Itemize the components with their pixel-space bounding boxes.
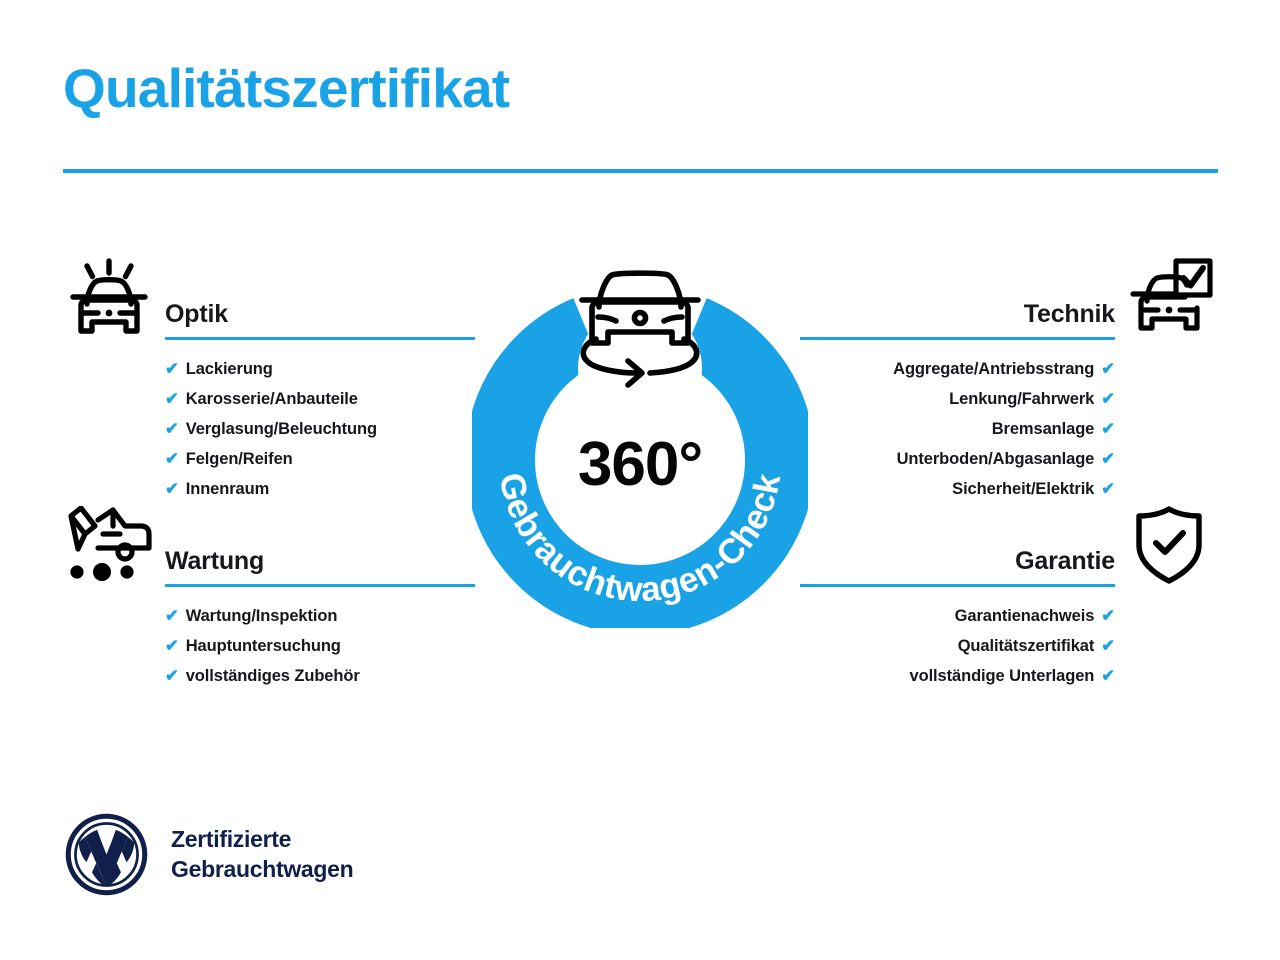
section-optik-divider <box>165 337 475 340</box>
check-icon: ✔ <box>165 384 179 414</box>
list-item-label: Qualitätszertifikat <box>958 631 1095 661</box>
section-technik-title-wrap: Technik <box>800 301 1115 341</box>
section-technik-divider <box>800 337 1115 340</box>
check-icon: ✔ <box>1101 444 1115 474</box>
list-item: Garantienachweis✔ <box>800 601 1115 631</box>
list-item: vollständige Unterlagen✔ <box>800 661 1115 691</box>
section-wartung-header: Wartung <box>63 505 475 587</box>
car-checkbox-icon <box>1123 258 1215 338</box>
check-icon: ✔ <box>1101 601 1115 631</box>
section-optik-title: Optik <box>165 301 475 329</box>
section-garantie-list: Garantienachweis✔ Qualitätszertifikat✔ v… <box>800 601 1215 691</box>
section-garantie-divider <box>800 584 1115 587</box>
section-garantie-header: Garantie <box>800 505 1215 587</box>
list-item-label: Karosserie/Anbauteile <box>186 384 358 414</box>
list-item: ✔Lackierung <box>165 354 475 384</box>
list-item: Bremsanlage✔ <box>800 414 1115 444</box>
badge-center-label: 360° <box>462 434 818 496</box>
list-item-label: Felgen/Reifen <box>186 444 293 474</box>
pencil-car-service-icon <box>63 505 155 585</box>
section-technik-title: Technik <box>800 301 1115 329</box>
check-icon: ✔ <box>165 601 179 631</box>
section-optik: Optik ✔Lackierung ✔Karosserie/Anbauteile… <box>63 258 475 504</box>
footer-line-2: Gebrauchtwagen <box>171 855 353 884</box>
section-wartung: Wartung ✔Wartung/Inspektion ✔Hauptunters… <box>63 505 475 691</box>
list-item-label: vollständiges Zubehör <box>186 661 360 691</box>
list-item: Sicherheit/Elektrik✔ <box>800 474 1115 504</box>
list-item-label: Lenkung/Fahrwerk <box>949 384 1094 414</box>
section-technik: Technik Aggregate/Antriebsstrang✔ Lenkun… <box>800 258 1215 504</box>
list-item: ✔Felgen/Reifen <box>165 444 475 474</box>
list-item-label: Bremsanlage <box>992 414 1095 444</box>
check-icon: ✔ <box>1101 354 1115 384</box>
list-item: Unterboden/Abgasanlage✔ <box>800 444 1115 474</box>
section-technik-header: Technik <box>800 258 1215 340</box>
list-item: ✔Hauptuntersuchung <box>165 631 475 661</box>
check-icon: ✔ <box>1101 384 1115 414</box>
check-icon: ✔ <box>165 631 179 661</box>
check-icon: ✔ <box>165 661 179 691</box>
list-item: ✔Karosserie/Anbauteile <box>165 384 475 414</box>
list-item-label: Innenraum <box>186 474 269 504</box>
list-item-label: Unterboden/Abgasanlage <box>897 444 1095 474</box>
shield-check-icon <box>1123 505 1215 585</box>
list-item: Qualitätszertifikat✔ <box>800 631 1115 661</box>
section-garantie: Garantie Garantienachweis✔ Qualitätszert… <box>800 505 1215 691</box>
section-optik-header: Optik <box>63 258 475 340</box>
section-wartung-title-wrap: Wartung <box>165 548 475 588</box>
check-icon: ✔ <box>165 414 179 444</box>
footer-brand: Zertifizierte Gebrauchtwagen <box>64 812 353 897</box>
check-icon: ✔ <box>165 354 179 384</box>
check-icon: ✔ <box>1101 414 1115 444</box>
check-icon: ✔ <box>165 474 179 504</box>
list-item-label: Verglasung/Beleuchtung <box>186 414 377 444</box>
check-icon: ✔ <box>1101 631 1115 661</box>
section-garantie-title: Garantie <box>800 548 1115 576</box>
list-item: Aggregate/Antriebsstrang✔ <box>800 354 1115 384</box>
gebrauchtwagen-check-badge: Gebrauchtwagen-Check 360° <box>462 250 818 640</box>
check-icon: ✔ <box>1101 661 1115 691</box>
list-item-label: Aggregate/Antriebsstrang <box>893 354 1094 384</box>
check-icon: ✔ <box>165 444 179 474</box>
section-optik-title-wrap: Optik <box>165 301 475 341</box>
page-title: Qualitätszertifikat <box>63 58 509 119</box>
list-item-label: Wartung/Inspektion <box>186 601 338 631</box>
section-wartung-list: ✔Wartung/Inspektion ✔Hauptuntersuchung ✔… <box>63 601 475 691</box>
quality-certificate-page: Qualitätszertifikat Optik <box>0 0 1280 960</box>
title-divider <box>63 169 1218 173</box>
list-item: ✔Verglasung/Beleuchtung <box>165 414 475 444</box>
list-item-label: Hauptuntersuchung <box>186 631 341 661</box>
volkswagen-logo <box>64 812 149 897</box>
list-item: Lenkung/Fahrwerk✔ <box>800 384 1115 414</box>
list-item: ✔Innenraum <box>165 474 475 504</box>
list-item-label: vollständige Unterlagen <box>910 661 1095 691</box>
list-item: ✔vollständiges Zubehör <box>165 661 475 691</box>
footer-line-1: Zertifizierte <box>171 825 353 854</box>
section-optik-list: ✔Lackierung ✔Karosserie/Anbauteile ✔Verg… <box>63 354 475 504</box>
car-shine-icon <box>63 258 155 338</box>
list-item-label: Garantienachweis <box>955 601 1095 631</box>
section-wartung-title: Wartung <box>165 548 475 576</box>
section-technik-list: Aggregate/Antriebsstrang✔ Lenkung/Fahrwe… <box>800 354 1215 504</box>
list-item: ✔Wartung/Inspektion <box>165 601 475 631</box>
section-wartung-divider <box>165 584 475 587</box>
section-garantie-title-wrap: Garantie <box>800 548 1115 588</box>
footer-text: Zertifizierte Gebrauchtwagen <box>171 825 353 884</box>
list-item-label: Lackierung <box>186 354 273 384</box>
list-item-label: Sicherheit/Elektrik <box>952 474 1094 504</box>
check-icon: ✔ <box>1101 474 1115 504</box>
